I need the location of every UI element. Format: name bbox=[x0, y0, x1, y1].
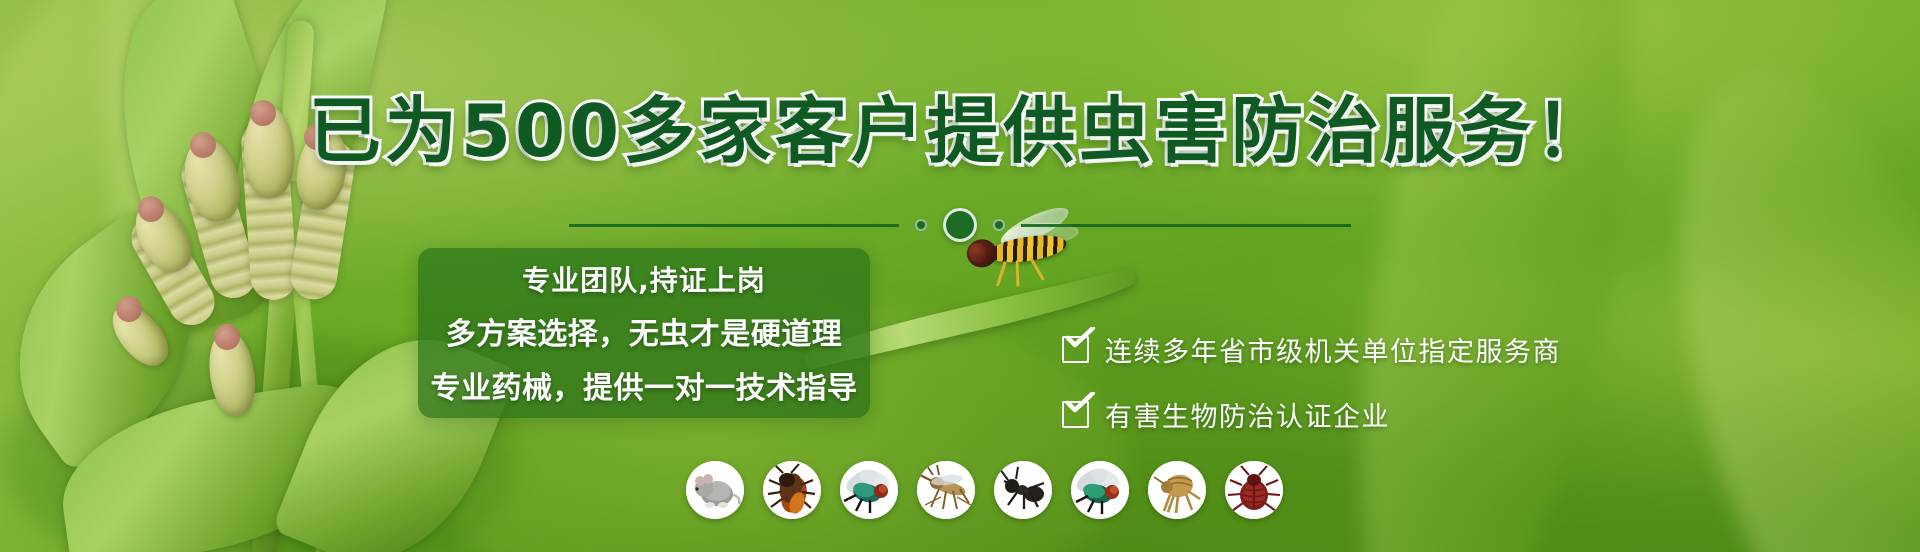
flea-icon[interactable] bbox=[1148, 461, 1206, 519]
mouse-icon[interactable] bbox=[686, 461, 744, 519]
fly-leg bbox=[1016, 261, 1020, 287]
plant-bud-tip bbox=[116, 296, 142, 322]
plant-bud-tip bbox=[214, 324, 240, 350]
divider-dot-small-icon bbox=[993, 219, 1005, 231]
divider-dot-large-icon bbox=[943, 208, 977, 242]
banner-headline: 已为500多家客户提供虫害防治服务！ bbox=[0, 72, 1920, 177]
decorative-divider bbox=[0, 208, 1920, 242]
blowfly-icon[interactable] bbox=[1071, 461, 1129, 519]
checkbox-checked-icon bbox=[1062, 401, 1089, 428]
checklist-item-label: 有害生物防治认证企业 bbox=[1105, 395, 1390, 434]
checklist-item: 有害生物防治认证企业 bbox=[1062, 395, 1561, 434]
bedbug-icon[interactable] bbox=[1225, 461, 1283, 519]
fly-leg bbox=[996, 261, 1007, 287]
selling-points-text: 专业团队,持证上岗 多方案选择，无虫才是硬道理 专业药械，提供一对一技术指导 bbox=[418, 248, 870, 418]
mosquito-icon[interactable] bbox=[917, 461, 975, 519]
divider-line-left bbox=[569, 224, 899, 227]
selling-point-line-1: 专业团队,持证上岗 bbox=[522, 259, 766, 299]
selling-point-line-3: 专业药械，提供一对一技术指导 bbox=[431, 363, 858, 407]
fly-icon[interactable] bbox=[840, 461, 898, 519]
checkbox-checked-icon bbox=[1062, 336, 1089, 363]
divider-line-right bbox=[1021, 224, 1351, 227]
promo-banner: 已为500多家客户提供虫害防治服务！ 专业团队,持证上岗 多方案选择，无虫才是硬… bbox=[0, 0, 1920, 552]
ant-icon[interactable] bbox=[994, 461, 1052, 519]
selling-point-line-2: 多方案选择，无虫才是硬道理 bbox=[446, 309, 843, 353]
headline-text: 已为500多家客户提供虫害防治服务！ bbox=[309, 89, 1611, 173]
credentials-checklist: 连续多年省市级机关单位指定服务商 有害生物防治认证企业 bbox=[1062, 330, 1561, 434]
checklist-item-label: 连续多年省市级机关单位指定服务商 bbox=[1105, 330, 1561, 369]
cockroach-icon[interactable] bbox=[763, 461, 821, 519]
pest-type-icon-row bbox=[686, 461, 1283, 519]
fly-leg bbox=[1029, 257, 1045, 281]
divider-dot-small-icon bbox=[915, 219, 927, 231]
checklist-item: 连续多年省市级机关单位指定服务商 bbox=[1062, 330, 1561, 369]
